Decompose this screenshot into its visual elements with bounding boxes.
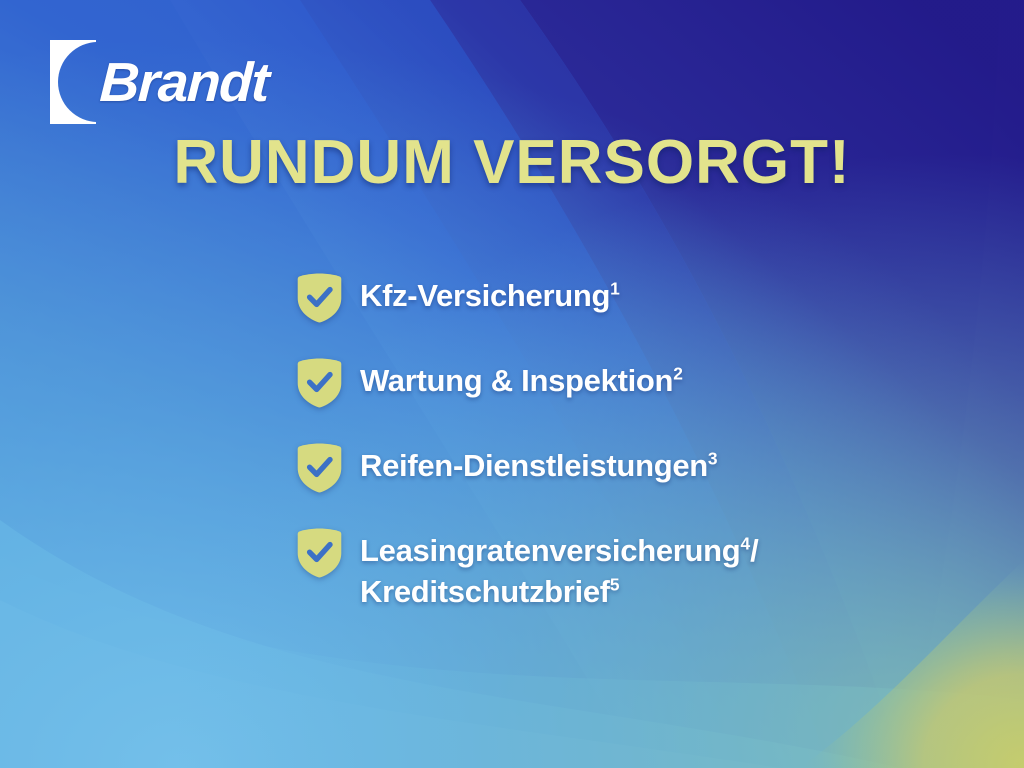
benefit-label: Leasingratenversicherung4/ Kreditschutzb… (360, 527, 758, 613)
list-item: Wartung & Inspektion2 (296, 357, 936, 409)
benefit-label-line2-text: Kreditschutzbrief (360, 574, 610, 609)
benefit-label-text: Reifen-Dienstleistungen (360, 448, 708, 483)
list-item: Leasingratenversicherung4/ Kreditschutzb… (296, 527, 936, 613)
page-title: RUNDUM VERSORGT! (0, 132, 1024, 194)
footnote-marker: 1 (610, 279, 620, 299)
brand-name: Brandt (99, 55, 270, 110)
benefit-label: Kfz-Versicherung1 (360, 272, 620, 317)
shield-check-icon (296, 442, 343, 494)
footnote-marker: 4 (740, 534, 750, 554)
benefit-label-text: Wartung & Inspektion (360, 363, 673, 398)
benefit-separator: / (750, 533, 758, 568)
shield-check-icon (296, 357, 343, 409)
benefit-label-text: Kfz-Versicherung (360, 278, 610, 313)
benefit-label: Reifen-Dienstleistungen3 (360, 442, 718, 487)
list-item: Kfz-Versicherung1 (296, 272, 936, 324)
footnote-marker: 5 (610, 575, 620, 595)
footnote-marker: 3 (708, 449, 718, 469)
brandt-crescent-mark-icon (50, 40, 96, 124)
shield-check-icon (296, 527, 343, 579)
benefit-label: Wartung & Inspektion2 (360, 357, 683, 402)
benefits-list: Kfz-Versicherung1 Wartung & Inspektion2 … (296, 272, 936, 613)
footnote-marker: 2 (673, 364, 683, 384)
list-item: Reifen-Dienstleistungen3 (296, 442, 936, 494)
benefit-label-line2: Kreditschutzbrief5 (360, 572, 758, 613)
benefit-label-text: Leasingratenversicherung (360, 533, 740, 568)
shield-check-icon (296, 272, 343, 324)
promo-graphic: Brandt RUNDUM VERSORGT! Kfz-Versicherung… (0, 0, 1024, 768)
brand-logo: Brandt (50, 40, 268, 124)
